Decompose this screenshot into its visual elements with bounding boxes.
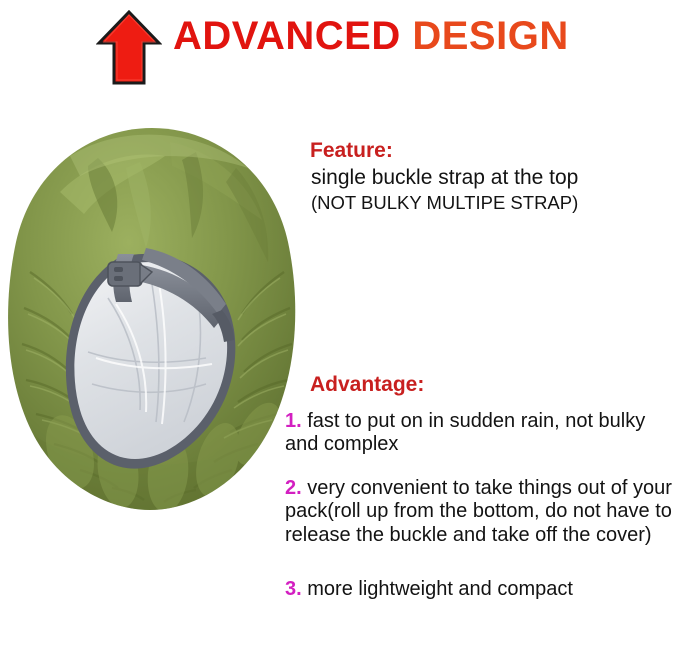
feature-line-1: single buckle strap at the top <box>311 164 679 191</box>
advantage-section: Advantage: 1. fast to put on in sudden r… <box>285 372 679 601</box>
advantage-item-3-number: 3. <box>285 578 302 600</box>
up-arrow-icon <box>96 10 162 86</box>
page-title-word-advanced: ADVANCED <box>173 14 401 58</box>
advantage-heading: Advantage: <box>310 372 679 398</box>
feature-heading: Feature: <box>310 138 679 164</box>
advantage-item-2: 2. very convenient to take things out of… <box>285 477 679 548</box>
advantage-item-1: 1. fast to put on in sudden rain, not bu… <box>285 410 679 457</box>
product-image-rain-cover <box>0 122 305 514</box>
page-title-word-design: DESIGN <box>412 14 568 58</box>
advantage-item-1-number: 1. <box>285 410 302 432</box>
advantage-item-2-text: very convenient to take things out of yo… <box>285 477 672 546</box>
page-title: ADVANCED DESIGN <box>173 16 569 56</box>
advantage-item-2-number: 2. <box>285 477 302 499</box>
advantage-item-1-text: fast to put on in sudden rain, not bulky… <box>285 410 645 456</box>
header-banner: ADVANCED DESIGN <box>0 0 679 96</box>
advantage-item-3: 3. more lightweight and compact <box>285 578 679 602</box>
advantage-item-3-text: more lightweight and compact <box>307 578 573 600</box>
feature-section: Feature: single buckle strap at the top … <box>305 138 679 215</box>
feature-line-2: (NOT BULKY MULTIPE STRAP) <box>311 191 679 215</box>
